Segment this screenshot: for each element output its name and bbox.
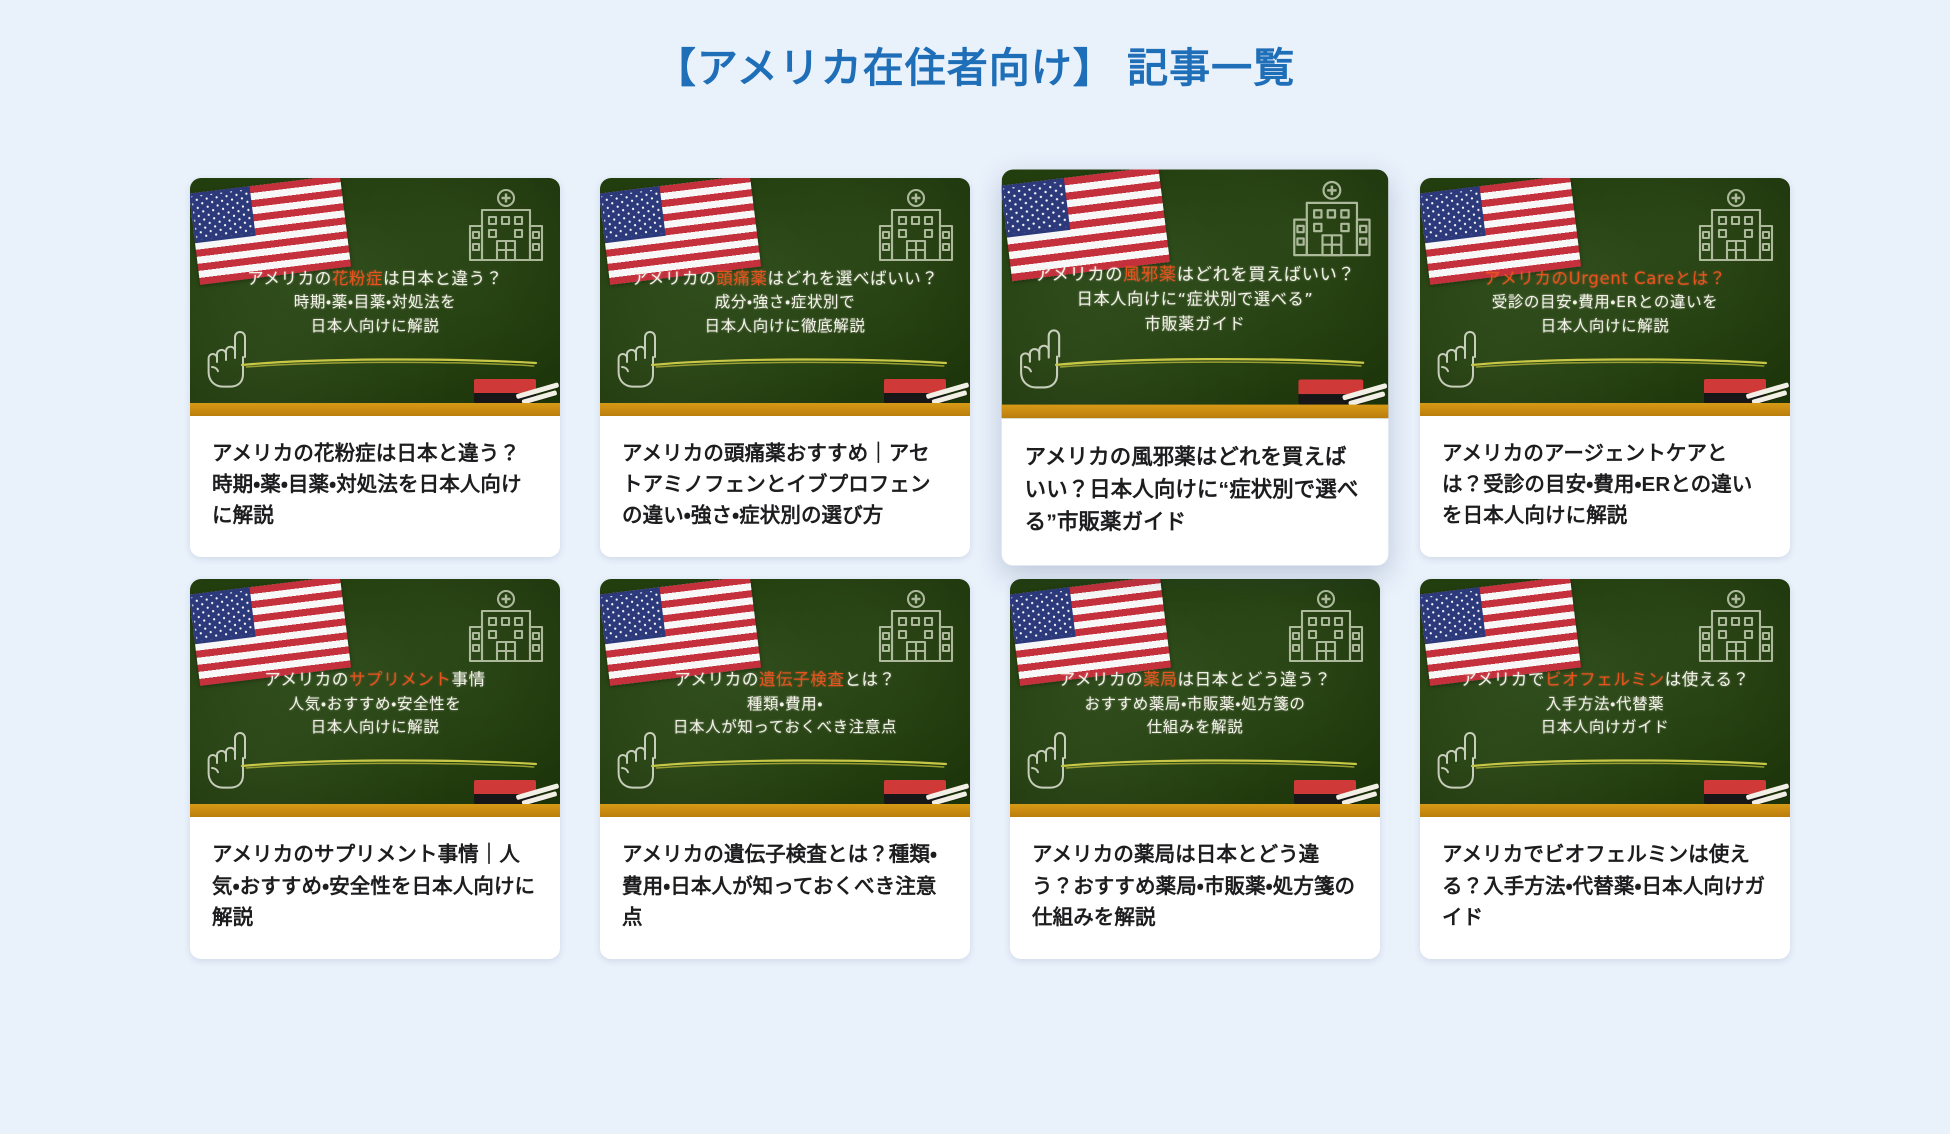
hospital-icon bbox=[876, 589, 956, 670]
chalk-line: 仕組みを解説 bbox=[1020, 716, 1370, 740]
article-card[interactable]: アメリカの薬局は日本とどう違う？おすすめ薬局・市販薬・処方箋の仕組みを解説 アメ… bbox=[1010, 579, 1380, 958]
thumbnail-chalk-text: アメリカのサプリメント事情人気・おすすめ・安全性を日本人向けに解説 bbox=[190, 667, 560, 739]
chalkboard-ledge bbox=[1420, 804, 1790, 817]
chalk-line: 受診の目安・費用・ERとの違いを bbox=[1430, 291, 1780, 315]
chalk-highlight: サプリメント bbox=[349, 670, 452, 689]
chalk-highlight: 花粉症 bbox=[332, 269, 383, 288]
chalk-line: 日本人向けに解説 bbox=[1430, 315, 1780, 339]
article-thumbnail: アメリカの薬局は日本とどう違う？おすすめ薬局・市販薬・処方箋の仕組みを解説 bbox=[1010, 579, 1380, 817]
chalk-line: アメリカの風邪薬はどれを買えばいい？ bbox=[1012, 261, 1378, 287]
hospital-icon bbox=[1286, 589, 1366, 670]
chalk-highlight: 遺伝子検査 bbox=[759, 670, 845, 689]
chalk-line: 人気・おすすめ・安全性を bbox=[200, 693, 550, 717]
thumbnail-chalk-text: アメリカの頭痛薬はどれを選べばいい？成分・強さ・症状別で日本人向けに徹底解説 bbox=[600, 266, 970, 338]
hospital-icon bbox=[876, 188, 956, 269]
article-card-body: アメリカの薬局は日本とどう違う？おすすめ薬局・市販薬・処方箋の仕組みを解説 bbox=[1010, 817, 1380, 958]
chalk-line: 時期・薬・目薬・対処法を bbox=[200, 291, 550, 315]
chalk-line: おすすめ薬局・市販薬・処方箋の bbox=[1020, 693, 1370, 717]
article-thumbnail: アメリカの頭痛薬はどれを選べばいい？成分・強さ・症状別で日本人向けに徹底解説 bbox=[600, 178, 970, 416]
article-card-title: アメリカのアージェントケアとは？受診の目安・費用・ERとの違いを日本人向けに解説 bbox=[1442, 438, 1768, 531]
chalk-line: アメリカでビオフェルミンは使える？ bbox=[1430, 667, 1780, 692]
page-title: 【アメリカ在住者向け】 記事一覧 bbox=[0, 0, 1950, 95]
article-card-title: アメリカのサプリメント事情｜人気・おすすめ・安全性を日本人向けに解説 bbox=[212, 839, 538, 932]
chalk-line: 入手方法・代替薬 bbox=[1430, 693, 1780, 717]
chalkboard-ledge bbox=[190, 403, 560, 416]
article-card-body: アメリカのアージェントケアとは？受診の目安・費用・ERとの違いを日本人向けに解説 bbox=[1420, 416, 1790, 557]
chalk-underline-icon bbox=[1060, 758, 1358, 769]
article-card-title: アメリカの頭痛薬おすすめ｜アセトアミノフェンとイブプロフェンの違い・強さ・症状別… bbox=[622, 438, 948, 531]
article-card-body: アメリカの花粉症は日本と違う？時期・薬・目薬・対処法を日本人向けに解説 bbox=[190, 416, 560, 557]
chalk-highlight: 薬局 bbox=[1143, 670, 1177, 689]
chalk-highlight: 風邪薬 bbox=[1123, 265, 1177, 285]
thumbnail-chalk-text: アメリカの花粉症は日本と違う？時期・薬・目薬・対処法を日本人向けに解説 bbox=[190, 266, 560, 338]
hospital-icon bbox=[466, 188, 546, 269]
chalk-underline-icon bbox=[650, 758, 948, 769]
article-card[interactable]: アメリカの遺伝子検査とは？種類・費用・日本人が知っておくべき注意点 アメリカの遺… bbox=[600, 579, 970, 958]
chalk-underline-icon bbox=[1470, 758, 1768, 769]
article-list-page: 【アメリカ在住者向け】 記事一覧 bbox=[0, 0, 1950, 1134]
article-thumbnail: アメリカでビオフェルミンは使える？入手方法・代替薬日本人向けガイド bbox=[1420, 579, 1790, 817]
chalk-line: 日本人向けガイド bbox=[1430, 716, 1780, 740]
thumbnail-chalk-text: アメリカでビオフェルミンは使える？入手方法・代替薬日本人向けガイド bbox=[1420, 667, 1790, 739]
chalkboard-ledge bbox=[190, 804, 560, 817]
hospital-icon bbox=[1696, 589, 1776, 670]
chalkboard-ledge bbox=[600, 804, 970, 817]
chalk-underline-icon bbox=[240, 357, 538, 368]
article-card[interactable]: アメリカのサプリメント事情人気・おすすめ・安全性を日本人向けに解説 アメリカのサ… bbox=[190, 579, 560, 958]
chalk-line: アメリカの花粉症は日本と違う？ bbox=[200, 266, 550, 291]
article-card[interactable]: アメリカでビオフェルミンは使える？入手方法・代替薬日本人向けガイド アメリカでビ… bbox=[1420, 579, 1790, 958]
article-card-body: アメリカでビオフェルミンは使える？入手方法・代替薬・日本人向けガイド bbox=[1420, 817, 1790, 958]
article-card-body: アメリカのサプリメント事情｜人気・おすすめ・安全性を日本人向けに解説 bbox=[190, 817, 560, 958]
hospital-icon bbox=[1696, 188, 1776, 269]
chalk-line: アメリカのサプリメント事情 bbox=[200, 667, 550, 692]
chalk-line: 成分・強さ・症状別で bbox=[610, 291, 960, 315]
thumbnail-chalk-text: アメリカの風邪薬はどれを買えばいい？日本人向けに“症状別で選べる”市販薬ガイド bbox=[1002, 261, 1389, 336]
article-thumbnail: アメリカの風邪薬はどれを買えばいい？日本人向けに“症状別で選べる”市販薬ガイド bbox=[1002, 169, 1389, 418]
article-card-title: アメリカの花粉症は日本と違う？時期・薬・目薬・対処法を日本人向けに解説 bbox=[212, 438, 538, 531]
chalk-line: 種類・費用・ bbox=[610, 693, 960, 717]
chalk-highlight: ビオフェルミン bbox=[1545, 670, 1665, 689]
chalkboard-ledge bbox=[1002, 405, 1389, 419]
chalk-underline-icon bbox=[1054, 357, 1365, 368]
chalk-line: 日本人向けに“症状別で選べる” bbox=[1012, 288, 1378, 313]
article-card[interactable]: アメリカのUrgent Careとは？受診の目安・費用・ERとの違いを日本人向け… bbox=[1420, 178, 1790, 557]
chalk-line: 日本人が知っておくべき注意点 bbox=[610, 716, 960, 740]
article-thumbnail: アメリカのサプリメント事情人気・おすすめ・安全性を日本人向けに解説 bbox=[190, 579, 560, 817]
chalkboard-ledge bbox=[1420, 403, 1790, 416]
chalk-line: アメリカの遺伝子検査とは？ bbox=[610, 667, 960, 692]
article-card-body: アメリカの遺伝子検査とは？種類・費用・日本人が知っておくべき注意点 bbox=[600, 817, 970, 958]
article-card-title: アメリカの風邪薬はどれを買えばいい？日本人向けに“症状別で選べる”市販薬ガイド bbox=[1025, 441, 1366, 539]
article-card-title: アメリカの遺伝子検査とは？種類・費用・日本人が知っておくべき注意点 bbox=[622, 839, 948, 932]
thumbnail-chalk-text: アメリカの薬局は日本とどう違う？おすすめ薬局・市販薬・処方箋の仕組みを解説 bbox=[1010, 667, 1380, 739]
chalk-underline-icon bbox=[1470, 357, 1768, 368]
chalk-line: 日本人向けに解説 bbox=[200, 315, 550, 339]
chalk-underline-icon bbox=[650, 357, 948, 368]
article-card-title: アメリカでビオフェルミンは使える？入手方法・代替薬・日本人向けガイド bbox=[1442, 839, 1768, 932]
chalk-line: 市販薬ガイド bbox=[1012, 312, 1378, 337]
article-thumbnail: アメリカの遺伝子検査とは？種類・費用・日本人が知っておくべき注意点 bbox=[600, 579, 970, 817]
article-card[interactable]: アメリカの頭痛薬はどれを選べばいい？成分・強さ・症状別で日本人向けに徹底解説 ア… bbox=[600, 178, 970, 557]
article-card[interactable]: アメリカの風邪薬はどれを買えばいい？日本人向けに“症状別で選べる”市販薬ガイド … bbox=[1002, 169, 1389, 566]
article-card-grid: アメリカの花粉症は日本と違う？時期・薬・目薬・対処法を日本人向けに解説 アメリカ… bbox=[190, 178, 1765, 959]
chalk-line: アメリカの薬局は日本とどう違う？ bbox=[1020, 667, 1370, 692]
chalk-underline-icon bbox=[240, 758, 538, 769]
article-thumbnail: アメリカの花粉症は日本と違う？時期・薬・目薬・対処法を日本人向けに解説 bbox=[190, 178, 560, 416]
thumbnail-chalk-text: アメリカのUrgent Careとは？受診の目安・費用・ERとの違いを日本人向け… bbox=[1420, 266, 1790, 338]
chalk-line: アメリカのUrgent Careとは？ bbox=[1430, 266, 1780, 291]
chalk-line: 日本人向けに徹底解説 bbox=[610, 315, 960, 339]
article-card-body: アメリカの風邪薬はどれを買えばいい？日本人向けに“症状別で選べる”市販薬ガイド bbox=[1002, 418, 1389, 566]
chalk-line: 日本人向けに解説 bbox=[200, 716, 550, 740]
chalkboard-ledge bbox=[1010, 804, 1380, 817]
article-card-body: アメリカの頭痛薬おすすめ｜アセトアミノフェンとイブプロフェンの違い・強さ・症状別… bbox=[600, 416, 970, 557]
hospital-icon bbox=[1290, 180, 1374, 265]
article-card[interactable]: アメリカの花粉症は日本と違う？時期・薬・目薬・対処法を日本人向けに解説 アメリカ… bbox=[190, 178, 560, 557]
article-thumbnail: アメリカのUrgent Careとは？受診の目安・費用・ERとの違いを日本人向け… bbox=[1420, 178, 1790, 416]
chalk-line: アメリカの頭痛薬はどれを選べばいい？ bbox=[610, 266, 960, 291]
chalkboard-ledge bbox=[600, 403, 970, 416]
article-card-title: アメリカの薬局は日本とどう違う？おすすめ薬局・市販薬・処方箋の仕組みを解説 bbox=[1032, 839, 1358, 932]
chalk-highlight: 頭痛薬 bbox=[716, 269, 767, 288]
thumbnail-chalk-text: アメリカの遺伝子検査とは？種類・費用・日本人が知っておくべき注意点 bbox=[600, 667, 970, 739]
hospital-icon bbox=[466, 589, 546, 670]
